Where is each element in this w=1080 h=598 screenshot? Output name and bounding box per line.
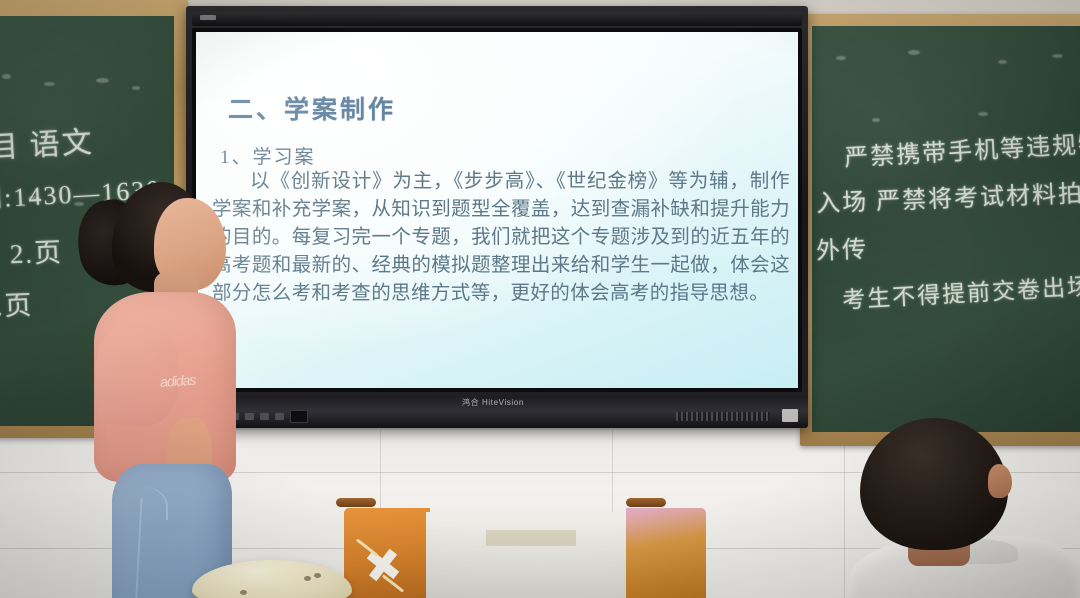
blackboard-left-line-3: 7.页 bbox=[0, 283, 34, 324]
blackboard-left-line-0: 目 语文 bbox=[0, 117, 95, 167]
volume-up-button-icon[interactable] bbox=[275, 413, 284, 420]
panel-status-led-icon bbox=[200, 15, 216, 20]
jeans-pocket bbox=[122, 486, 168, 520]
blackboard-right: 严禁携带手机等违规物品 入场 严禁将考试材料拍照 外传 考生不得提前交卷出场 bbox=[812, 26, 1080, 432]
speaker-grille-icon bbox=[676, 412, 770, 421]
blackboard-right-line-0: 严禁携带手机等违规物品 bbox=[843, 122, 1080, 173]
lectern-plate bbox=[486, 530, 576, 546]
blackboard-right-line-3: 考生不得提前交卷出场 bbox=[841, 267, 1080, 315]
panel-bezel: 二、学案制作 1、学习案 以《创新设计》为主，《步步高》、《世纪金榜》等为辅，制… bbox=[192, 28, 802, 392]
brand-label: 鸿合 HiteVision bbox=[462, 397, 524, 408]
interactive-flat-panel[interactable]: 二、学案制作 1、学习案 以《创新设计》为主，《步步高》、《世纪金榜》等为辅，制… bbox=[186, 6, 808, 428]
slide-title: 二、学案制作 bbox=[228, 90, 396, 126]
man-ear bbox=[988, 464, 1012, 498]
lectern-rail-right bbox=[626, 498, 666, 507]
lectern-side-left bbox=[344, 508, 430, 598]
volume-down-button-icon[interactable] bbox=[260, 413, 269, 420]
lectern-rail-left bbox=[336, 498, 376, 507]
hdmi-port-icon[interactable] bbox=[290, 410, 308, 423]
ir-sensor-icon bbox=[782, 409, 798, 422]
slide-body-text: 以《创新设计》为主，《步步高》、《世纪金榜》等为辅，制作学案和补充学案，从知识到… bbox=[212, 168, 790, 308]
man-head bbox=[860, 418, 1008, 550]
lectern-side-right bbox=[626, 508, 706, 598]
presentation-screen[interactable]: 二、学案制作 1、学习案 以《创新设计》为主，《步步高》、《世纪金榜》等为辅，制… bbox=[196, 32, 798, 388]
panel-bottom-bezel: 鸿合 HiteVision bbox=[186, 396, 808, 428]
blackboard-left-line-2: 共 2.页 bbox=[0, 230, 64, 272]
panel-top-bezel bbox=[192, 12, 802, 26]
standing-woman: adidas bbox=[58, 180, 248, 598]
seated-man bbox=[848, 418, 1080, 598]
blackboard-right-line-1: 入场 严禁将考试材料拍照 bbox=[815, 172, 1080, 218]
lectern-front-panel bbox=[426, 512, 630, 598]
classroom-scene: 目 语文 间:1430—1630 共 2.页 7.页 严禁携带手机等违规物品 入… bbox=[0, 0, 1080, 598]
slide-subtitle: 1、学习案 bbox=[220, 142, 316, 169]
blackboard-right-line-2: 外传 bbox=[815, 229, 868, 266]
wooden-lectern bbox=[330, 500, 720, 598]
